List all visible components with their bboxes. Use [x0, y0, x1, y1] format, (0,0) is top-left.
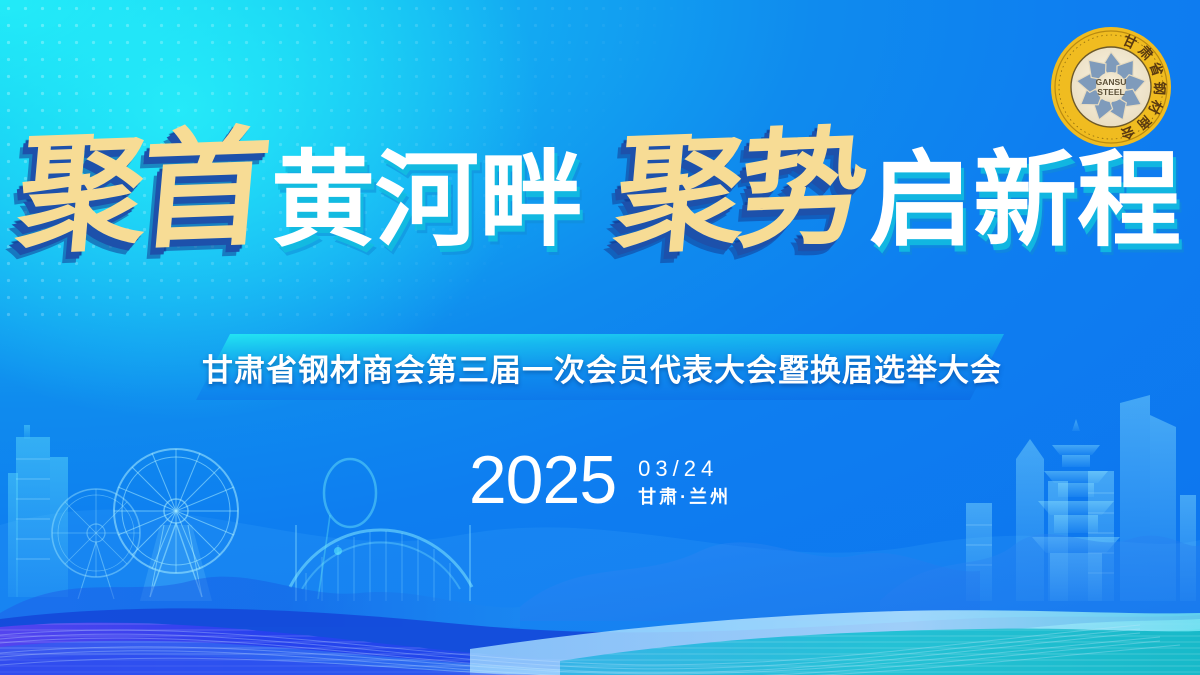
subtitle-banner: 甘肃省钢材商会第三届一次会员代表大会暨换届选举大会 [196, 334, 1004, 400]
title-phrase-2: 聚势 启新程 [617, 128, 1181, 256]
date-details: 03/24 甘肃·兰州 [638, 454, 731, 506]
wave-ribbon-violet [0, 655, 540, 675]
wave-ribbon-2 [0, 629, 1200, 675]
wave-ribbon-2-hatch [0, 629, 1200, 675]
ferris-base [140, 525, 212, 601]
deep-land [0, 608, 1200, 675]
hill-center [520, 542, 980, 621]
wave-ribbon-teal-hatch [560, 629, 1200, 675]
wave-ribbon-1 [0, 619, 1200, 675]
city-skyline-scenery [0, 375, 1200, 675]
title-white-2: 启新程 [869, 148, 1181, 252]
title-gold-1: 聚首 [13, 124, 275, 261]
date-block: 2025 03/24 甘肃·兰州 [0, 440, 1200, 520]
bg-blob [0, 510, 1200, 675]
event-location: 甘肃·兰州 [638, 488, 731, 506]
main-title: 聚首 黄河畔 聚势 启新程 [0, 92, 1200, 292]
logo-center-line1: GANSU [1096, 77, 1127, 87]
subtitle-text: 甘肃省钢材商会第三届一次会员代表大会暨换届选举大会 [196, 334, 1004, 400]
wave-ribbon-1-hatch [0, 619, 1200, 675]
hill-left [0, 577, 520, 627]
title-phrase-1: 聚首 黄河畔 [19, 128, 583, 256]
title-gold-2: 聚势 [611, 124, 873, 261]
event-year: 2025 [469, 446, 616, 514]
title-white-1: 黄河畔 [271, 148, 583, 252]
wave-threads [0, 625, 1180, 675]
poster-canvas: GANSU STEEL 甘肃省钢材商会 聚首 黄河畔 聚势 启新程 甘肃省钢材商… [0, 0, 1200, 675]
wave-ribbon-light [470, 610, 1200, 675]
event-day-month: 03/24 [638, 458, 731, 480]
hill-right [880, 534, 1200, 615]
wave-ribbon-teal [560, 629, 1200, 675]
